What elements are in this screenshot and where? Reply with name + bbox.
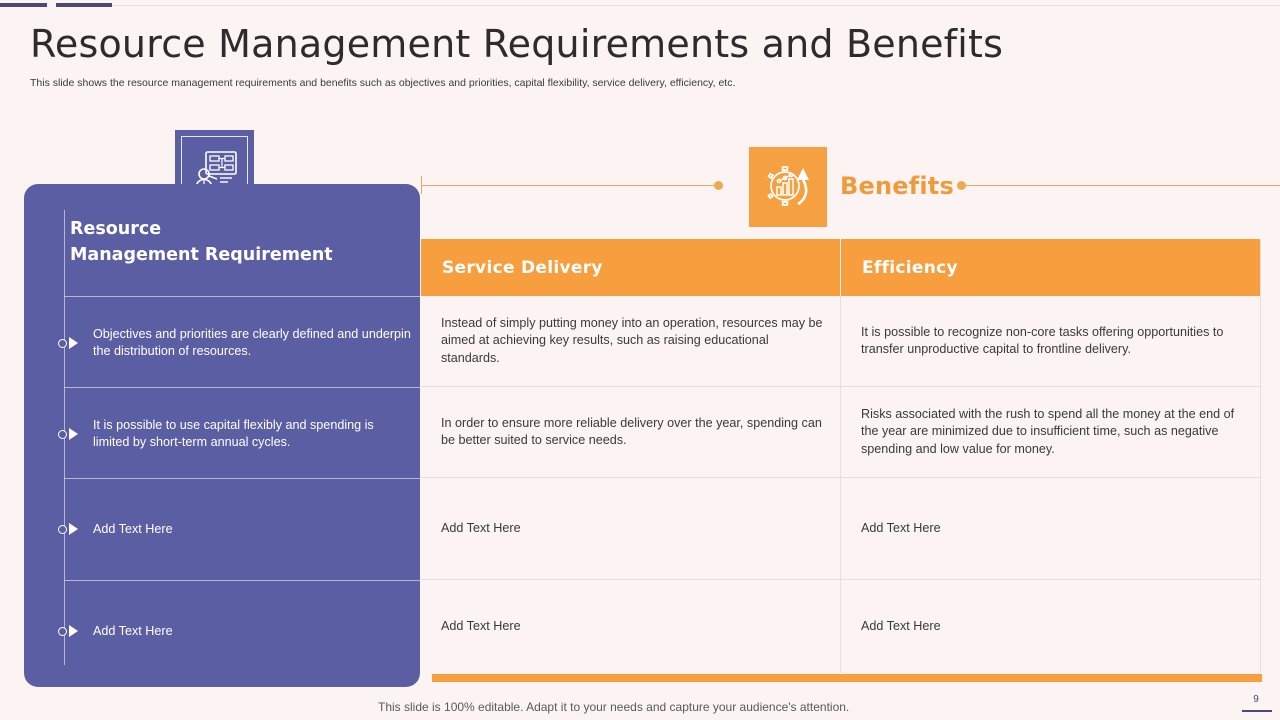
triangle-marker-icon [69, 625, 78, 637]
requirement-heading-line2: Management Requirement [70, 242, 400, 268]
requirement-row-text: Add Text Here [93, 623, 413, 640]
table-cell[interactable]: Add Text Here [841, 580, 1261, 673]
table-header-service-delivery: Service Delivery [421, 239, 840, 296]
table-right-edge [1260, 239, 1261, 673]
circle-marker-icon [58, 339, 67, 348]
connector-line-right [966, 185, 1280, 186]
table-cell[interactable]: In order to ensure more reliable deliver… [421, 387, 841, 478]
top-accent-bar-right [56, 3, 112, 7]
table-cell-text: Add Text Here [421, 520, 539, 538]
requirement-row-text: It is possible to use capital flexibly a… [93, 417, 413, 451]
footer-note: This slide is 100% editable. Adapt it to… [378, 700, 849, 714]
circle-marker-icon [58, 525, 67, 534]
growth-gear-arrow-icon [764, 164, 812, 210]
row-marker [58, 428, 78, 440]
page-number: 9 [1248, 694, 1264, 705]
table-cell[interactable]: Instead of simply putting money into an … [421, 296, 841, 387]
page-subtitle: This slide shows the resource management… [30, 77, 735, 89]
top-divider-line [112, 5, 1280, 6]
page-title: Resource Management Requirements and Ben… [30, 22, 1003, 66]
table-cell-text: Add Text Here [841, 618, 959, 636]
table-cell-text: Add Text Here [421, 618, 539, 636]
table-cell-text: It is possible to recognize non-core tas… [841, 324, 1261, 359]
table-cell-text: Risks associated with the rush to spend … [841, 406, 1261, 459]
table-header-efficiency: Efficiency [841, 239, 1261, 296]
requirement-row[interactable]: Add Text Here [24, 580, 420, 682]
benefits-label: Benefits [840, 172, 954, 200]
table-cell[interactable]: It is possible to recognize non-core tas… [841, 296, 1261, 387]
top-accent-bar-left [0, 3, 47, 7]
circle-marker-icon [58, 430, 67, 439]
row-marker [58, 625, 78, 637]
requirement-heading-line1: Resource [70, 216, 400, 242]
circle-marker-icon [58, 627, 67, 636]
table-cell[interactable]: Add Text Here [841, 478, 1261, 580]
requirement-panel-heading: Resource Management Requirement [70, 216, 400, 268]
slide-canvas: Resource Management Requirements and Ben… [0, 0, 1280, 720]
triangle-marker-icon [69, 523, 78, 535]
row-marker [58, 337, 78, 349]
table-header-label: Service Delivery [442, 258, 603, 278]
connector-line-left [422, 185, 718, 186]
row-marker [58, 523, 78, 535]
requirement-row[interactable]: Add Text Here [24, 478, 420, 580]
requirement-row-text: Add Text Here [93, 521, 413, 538]
page-number-rule [1242, 710, 1272, 712]
table-cell-text: Instead of simply putting money into an … [421, 315, 841, 368]
connector-dot-right [957, 181, 966, 190]
requirement-row[interactable]: Objectives and priorities are clearly de… [24, 296, 420, 387]
requirement-row-text: Objectives and priorities are clearly de… [93, 326, 413, 360]
table-header-label: Efficiency [862, 258, 958, 278]
connector-dot-left [714, 181, 723, 190]
table-cell-text: In order to ensure more reliable deliver… [421, 415, 841, 450]
requirement-row[interactable]: It is possible to use capital flexibly a… [24, 387, 420, 478]
table-cell[interactable]: Risks associated with the rush to spend … [841, 387, 1261, 478]
table-bottom-accent-bar [432, 674, 1262, 682]
requirement-panel: Resource Management Requirement Objectiv… [24, 184, 420, 687]
table-column-separator [840, 296, 841, 673]
triangle-marker-icon [69, 428, 78, 440]
table-cell[interactable]: Add Text Here [421, 478, 841, 580]
table-cell-text: Add Text Here [841, 520, 959, 538]
triangle-marker-icon [69, 337, 78, 349]
benefits-badge [749, 147, 827, 227]
table-cell[interactable]: Add Text Here [421, 580, 841, 673]
